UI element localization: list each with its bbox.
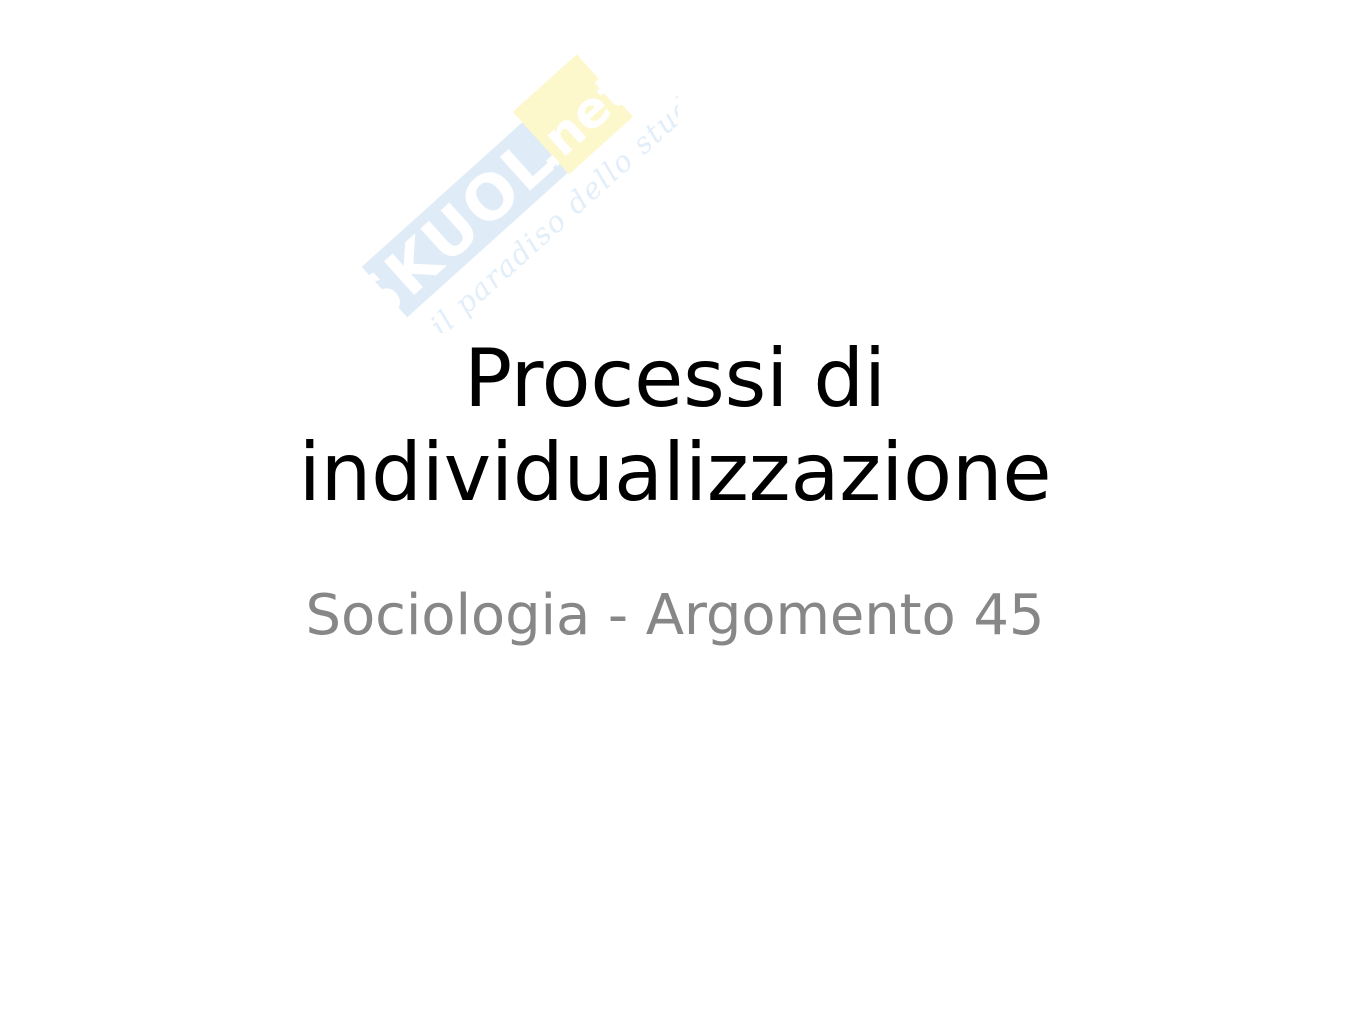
watermark-domain-block: .net [503,46,643,184]
svg-text:il paradiso dello studente: il paradiso dello studente [423,41,678,333]
slide-title: Processi di individualizzazione [0,332,1350,520]
svg-text:.net: .net [518,62,640,180]
watermark-tagline: il paradiso dello studente [423,41,678,333]
slide-title-block: Processi di individualizzazione [0,332,1350,520]
slide-subtitle: Sociologia - Argomento 45 [0,583,1350,649]
slide-subtitle-block: Sociologia - Argomento 45 [0,583,1350,649]
presentation-slide: SKUOLA .net il paradiso dello studente P… [0,0,1350,1013]
skuola-watermark: SKUOLA .net il paradiso dello studente [318,28,678,333]
watermark-brand-band [318,28,678,333]
